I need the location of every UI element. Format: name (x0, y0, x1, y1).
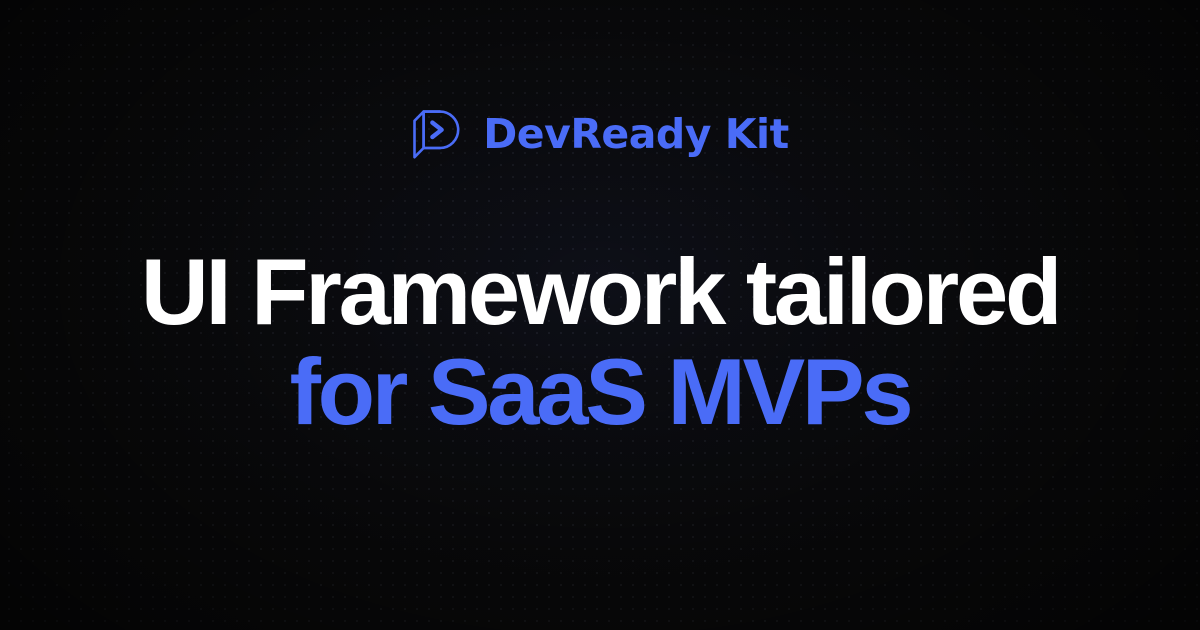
brand-lockup: DevReady Kit (411, 104, 788, 164)
card-content: DevReady Kit UI Framework tailored for S… (0, 0, 1200, 630)
headline-line-primary: UI Framework tailored (141, 242, 1059, 342)
og-card: DevReady Kit UI Framework tailored for S… (0, 0, 1200, 630)
brand-wordmark: DevReady Kit (483, 114, 788, 155)
headline-line-accent: for SaaS MVPs (141, 342, 1059, 442)
page-title: UI Framework tailored for SaaS MVPs (141, 242, 1059, 441)
devready-d-chevron-logo-icon (411, 107, 465, 161)
